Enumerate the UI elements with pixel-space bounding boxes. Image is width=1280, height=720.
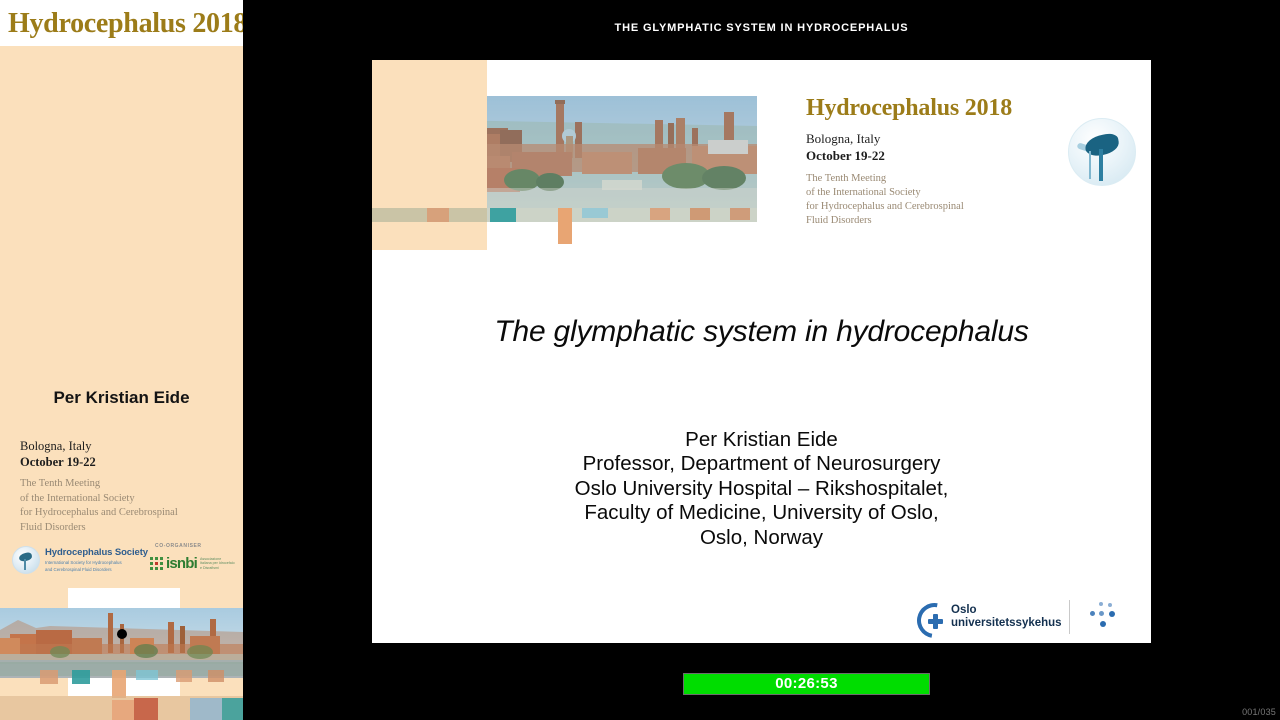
viewer-header-bar: THE GLYMPHATIC SYSTEM IN HYDROCEPHALUS bbox=[243, 0, 1280, 52]
co-organiser-label: CO-ORGANISER bbox=[155, 543, 202, 549]
author-line-3: Oslo University Hospital – Rikshospitale… bbox=[372, 477, 1151, 501]
footer-logo-divider bbox=[1069, 600, 1070, 634]
isnbi-logo: isnbi Associazione Italiana per Idrocefa… bbox=[150, 556, 235, 571]
sidebar-meeting-block: The Tenth Meeting of the International S… bbox=[20, 477, 178, 535]
emblem-stem-secondary bbox=[1089, 151, 1091, 179]
sidebar-place-dates: October 19-22 bbox=[20, 455, 96, 469]
slide-meeting-line-4: Fluid Disorders bbox=[806, 214, 964, 228]
oslo-logo-text: Oslo universitetssykehus bbox=[951, 604, 1062, 629]
conference-emblem-icon bbox=[1068, 118, 1136, 186]
sidebar-color-blocks bbox=[0, 588, 243, 720]
sidebar-meeting-line-4: Fluid Disorders bbox=[20, 521, 178, 536]
society-subtitle-2: and Cerebrospinal Fluid Disorders bbox=[45, 567, 148, 572]
sidebar-conference-title: Hydrocephalus 2018 bbox=[8, 8, 243, 40]
sidebar-meeting-line-1: The Tenth Meeting bbox=[20, 477, 178, 492]
society-name: Hydrocephalus Society bbox=[45, 548, 148, 558]
sidebar-bologna-photo-block bbox=[0, 588, 243, 720]
slide-meeting-line-1: The Tenth Meeting bbox=[806, 172, 964, 186]
slide-counter: 001/035 bbox=[1242, 707, 1276, 717]
author-line-1: Per Kristian Eide bbox=[372, 428, 1151, 452]
slide-meeting-line-3: for Hydrocephalus and Cerebrospinal bbox=[806, 200, 964, 214]
slide-header-banner: Hydrocephalus 2018 Bologna, Italy Octobe… bbox=[372, 60, 1151, 250]
slide-conference-title: Hydrocephalus 2018 bbox=[806, 95, 1012, 122]
slide-main-title: The glymphatic system in hydrocephalus bbox=[372, 315, 1151, 349]
sidebar-author-name: Per Kristian Eide bbox=[0, 388, 243, 408]
timer-value: 00:26:53 bbox=[684, 674, 929, 694]
society-emblem-icon bbox=[12, 546, 40, 574]
slide-place-city: Bologna, Italy bbox=[806, 130, 885, 147]
slide-place-dates: October 19-22 bbox=[806, 148, 885, 163]
sidebar-place-city: Bologna, Italy bbox=[20, 438, 96, 454]
slide-place-block: Bologna, Italy October 19-22 bbox=[806, 130, 885, 164]
presentation-title: THE GLYMPHATIC SYSTEM IN HYDROCEPHALUS bbox=[243, 22, 1280, 34]
author-line-5: Oslo, Norway bbox=[372, 526, 1151, 550]
emblem-stem-primary bbox=[1099, 149, 1103, 181]
sidebar-meeting-line-3: for Hydrocephalus and Cerebrospinal bbox=[20, 506, 178, 521]
slide-canvas[interactable]: Hydrocephalus 2018 Bologna, Italy Octobe… bbox=[372, 60, 1151, 643]
presentation-viewer: Hydrocephalus 2018 Per Kristian Eide Bol… bbox=[0, 0, 1280, 720]
oslo-logo-line-2: universitetssykehus bbox=[951, 617, 1062, 630]
slide-meeting-line-2: of the International Society bbox=[806, 186, 964, 200]
society-subtitle-1: International Society for Hydrocephalus bbox=[45, 560, 148, 565]
oslo-cross-vertical bbox=[933, 614, 938, 629]
slide-author-block: Per Kristian Eide Professor, Department … bbox=[372, 428, 1151, 550]
slide-header-color-blocks bbox=[372, 60, 757, 250]
oslo-university-hospital-logo: Oslo universitetssykehus bbox=[917, 603, 1062, 630]
conference-poster-sidebar: Hydrocephalus 2018 Per Kristian Eide Bol… bbox=[0, 0, 243, 720]
presentation-timer-bar[interactable]: 00:26:53 bbox=[683, 673, 930, 695]
oslo-logo-line-1: Oslo bbox=[951, 604, 1062, 617]
isnbi-wordmark: isnbi bbox=[166, 556, 197, 571]
partner-dots-logo-icon bbox=[1090, 602, 1120, 632]
slide-meeting-block: The Tenth Meeting of the International S… bbox=[806, 172, 964, 228]
sidebar-place-block: Bologna, Italy October 19-22 bbox=[20, 438, 96, 470]
isnbi-grid-icon bbox=[150, 557, 163, 570]
isnbi-subtitle-3: e Disrafismi bbox=[200, 566, 235, 570]
sidebar-meeting-line-2: of the International Society bbox=[20, 492, 178, 507]
hydrocephalus-society-logo: Hydrocephalus Society International Soci… bbox=[12, 546, 148, 574]
oslo-hospital-cross-icon bbox=[917, 603, 944, 630]
author-line-4: Faculty of Medicine, University of Oslo, bbox=[372, 501, 1151, 525]
author-line-2: Professor, Department of Neurosurgery bbox=[372, 452, 1151, 476]
